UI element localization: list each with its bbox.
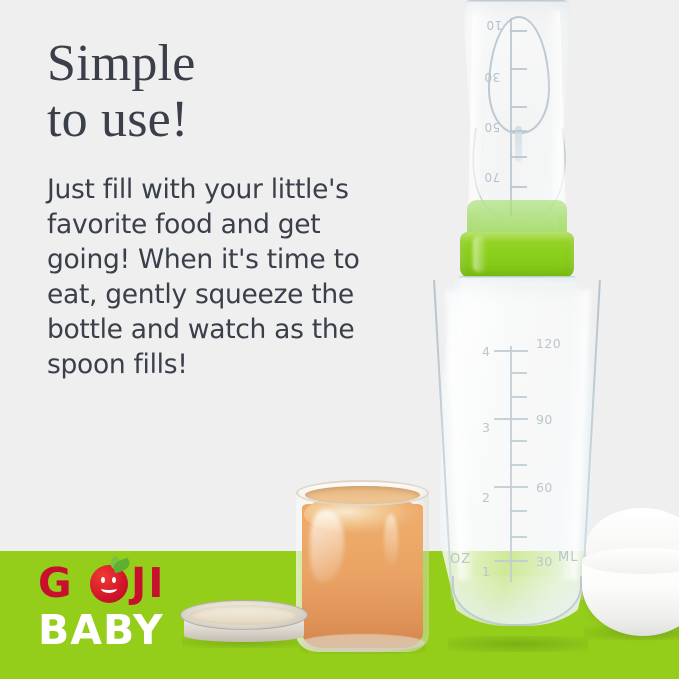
cap-tick: [510, 130, 527, 132]
scale-tick-minor: [510, 536, 527, 538]
logo-baby-wordmark: BABY: [38, 608, 208, 653]
jar-rim-inner: [305, 486, 420, 504]
page-title: Simple to use!: [47, 36, 377, 148]
cap-tick: [510, 106, 527, 108]
scale-tick-major: [494, 486, 528, 488]
oz-unit-label: OZ: [450, 552, 471, 567]
oz-number: 4: [482, 344, 490, 359]
ml-number: 90: [536, 412, 553, 427]
ml-number: 120: [536, 336, 561, 351]
logo-letter-g: G: [38, 561, 74, 606]
jar-highlight-right: [384, 514, 398, 568]
cap-tick: [510, 30, 527, 32]
scale-tick-major: [494, 560, 528, 562]
jar-bottom: [300, 634, 425, 652]
baby-food-jar: [296, 474, 429, 652]
scale-tick-minor: [510, 396, 527, 398]
logo-goji-wordmark: G JI: [38, 561, 198, 606]
berry-eye-left-icon: [101, 577, 105, 583]
cap-scale-number: 50: [484, 120, 500, 134]
scale-tick-minor: [510, 510, 527, 512]
scale-tick-major: [494, 418, 528, 420]
oz-number: 1: [482, 564, 490, 579]
logo-letters-ji: JI: [131, 561, 166, 606]
ml-unit-label: ML: [558, 550, 578, 565]
oz-number: 2: [482, 490, 490, 505]
scale-tick-minor: [510, 372, 527, 374]
berry-eye-right-icon: [112, 577, 116, 583]
collar-highlight: [473, 236, 487, 272]
ml-number: 30: [536, 554, 553, 569]
scale-tick-minor: [510, 464, 527, 466]
goji-berry-icon: [90, 565, 128, 603]
headline-line-2: to use!: [47, 92, 377, 148]
cap-scale-number: 70: [484, 170, 500, 184]
scale-tick-minor: [510, 440, 527, 442]
cap-tick: [510, 68, 527, 70]
white-bowl: [586, 508, 679, 650]
ml-number: 60: [536, 480, 553, 495]
cap-tick: [510, 186, 527, 188]
product-lifestyle-image: Simple to use! Just fill with your littl…: [0, 0, 679, 679]
berry-smile-icon: [101, 584, 117, 593]
cap-tick: [510, 156, 527, 158]
headline-line-1: Simple: [47, 35, 196, 92]
scale-tick-major: [494, 350, 528, 352]
brand-logo: G JI BABY: [38, 561, 208, 653]
oz-number: 3: [482, 420, 490, 435]
cap-scale-number: 30: [484, 70, 500, 84]
cap-scale-number: 10: [486, 18, 502, 32]
body-paragraph: Just fill with your little's favorite fo…: [47, 172, 365, 382]
